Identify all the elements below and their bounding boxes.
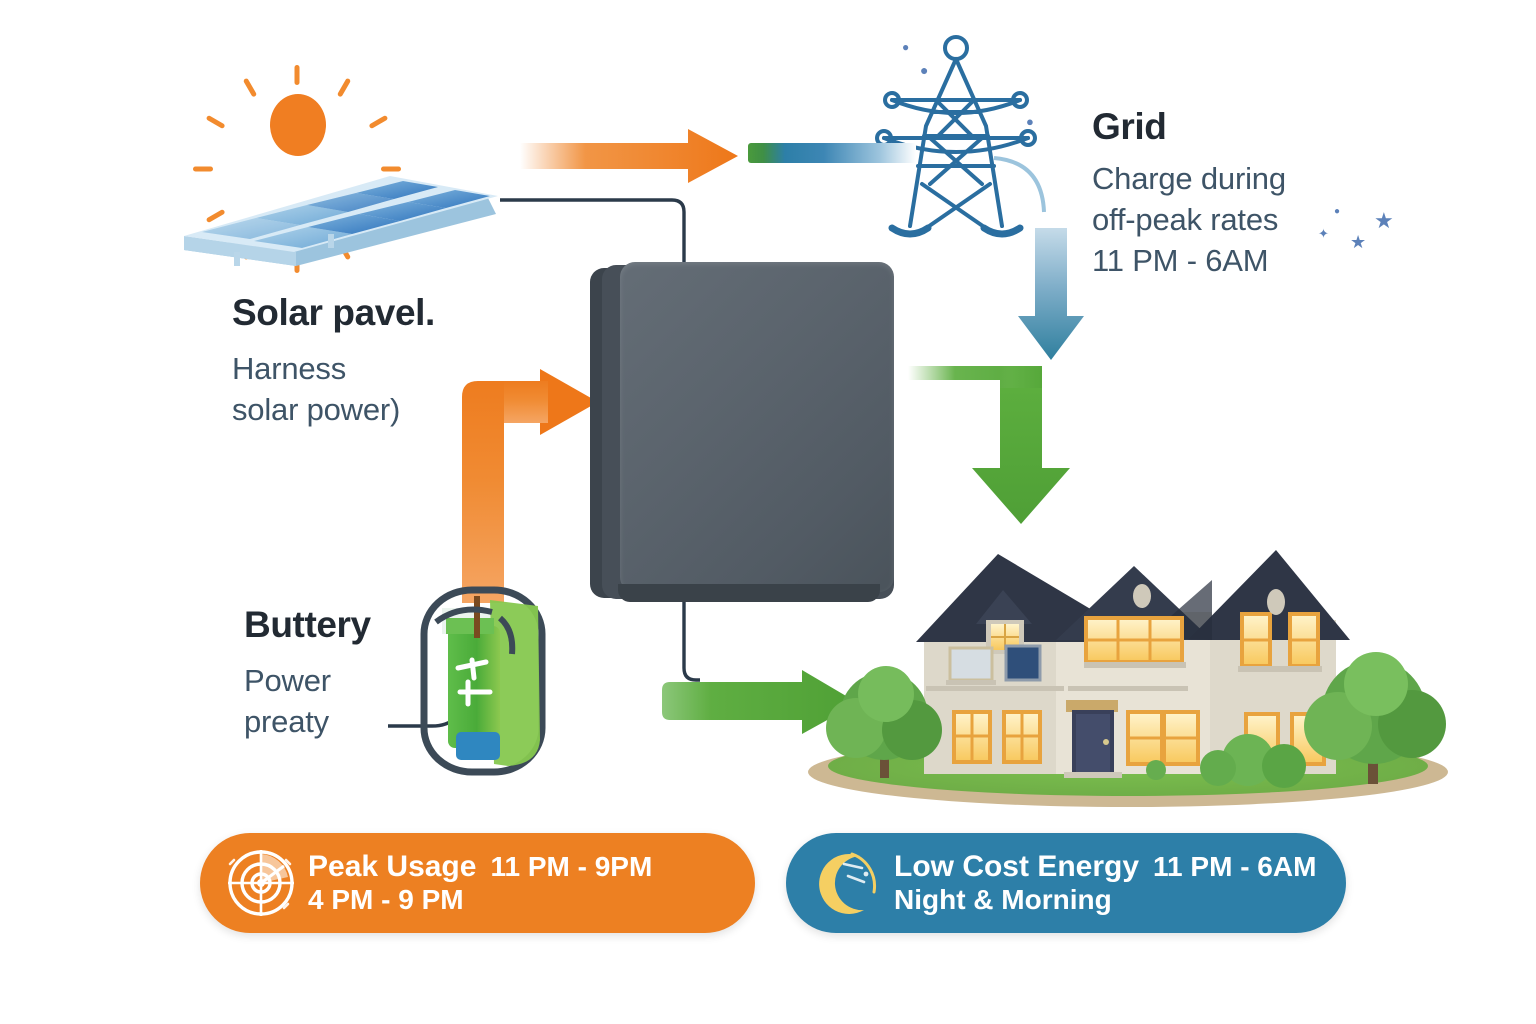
peak-usage-time: 11 PM - 9PM [490,851,652,883]
gauge-icon [222,844,300,922]
low-cost-energy-time: 11 PM - 6AM [1153,851,1316,883]
low-cost-energy-title: Low Cost Energy [894,851,1139,883]
peak-usage-badge[interactable]: Peak Usage 11 PM - 9PM 4 PM - 9 PM [200,833,755,933]
battery-cell-icon [412,582,562,778]
peak-usage-texts: Peak Usage 11 PM - 9PM 4 PM - 9 PM [308,851,652,915]
low-cost-energy-subtitle: Night & Morning [894,884,1316,915]
low-cost-energy-texts: Low Cost Energy 11 PM - 6AM Night & Morn… [894,851,1316,915]
battery-desc-line2: preaty [244,701,371,742]
peak-usage-title: Peak Usage [308,851,476,883]
infographic-canvas: Solar pavel. Harness solar power) [0,0,1536,1024]
peak-usage-subtitle: 4 PM - 9 PM [308,884,652,915]
moon-icon [808,844,886,922]
battery-desc-line1: Power [244,660,371,701]
house-icon [798,520,1458,810]
battery-node-text: Buttery Power preaty [244,604,371,742]
battery-title: Buttery [244,604,371,646]
low-cost-energy-badge[interactable]: Low Cost Energy 11 PM - 6AM Night & Morn… [786,833,1346,933]
